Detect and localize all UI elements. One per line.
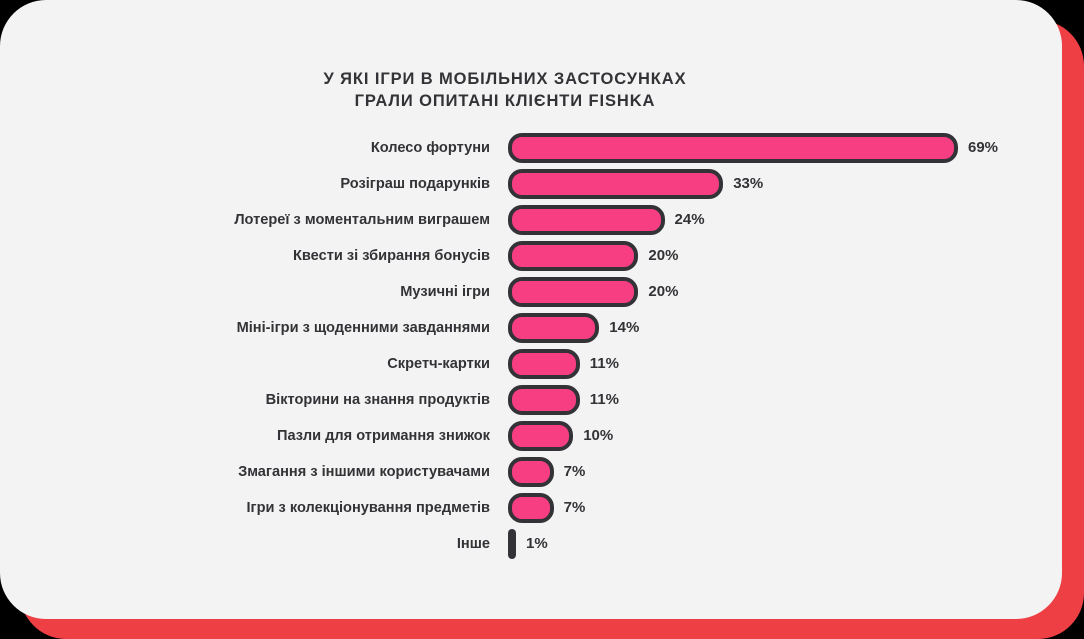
bar-chart-plot: Колесо фортуни69%Розіграш подарунків33%Л… — [0, 130, 1062, 562]
chart-title: У ЯКІ ІГРИ В МОБІЛЬНИХ ЗАСТОСУНКАХ ГРАЛИ… — [0, 68, 1010, 112]
bar — [508, 385, 580, 415]
bar — [508, 457, 554, 487]
bar-category-label: Колесо фортуни — [0, 130, 490, 166]
bar-value-label: 11% — [590, 382, 619, 418]
bar-row: Колесо фортуни69% — [0, 130, 1062, 166]
bar-value-label: 7% — [564, 454, 586, 490]
bar — [508, 349, 580, 379]
bar — [508, 277, 638, 307]
bar-row: Квести зі збирання бонусів20% — [0, 238, 1062, 274]
bar-category-label: Міні-ігри з щоденними завданнями — [0, 310, 490, 346]
bar — [508, 205, 665, 235]
bar-row: Музичні ігри20% — [0, 274, 1062, 310]
bar — [508, 529, 516, 559]
bar-category-label: Змагання з іншими користувачами — [0, 454, 490, 490]
bar-value-label: 24% — [675, 202, 705, 238]
bar-row: Лотереї з моментальним виграшем24% — [0, 202, 1062, 238]
bar-category-label: Ігри з колекціонування предметів — [0, 490, 490, 526]
bar — [508, 313, 599, 343]
bar-row: Міні-ігри з щоденними завданнями14% — [0, 310, 1062, 346]
bar — [508, 169, 723, 199]
bar-value-label: 1% — [526, 526, 548, 562]
bar-category-label: Музичні ігри — [0, 274, 490, 310]
chart-stage: У ЯКІ ІГРИ В МОБІЛЬНИХ ЗАСТОСУНКАХ ГРАЛИ… — [0, 0, 1084, 639]
bar-category-label: Квести зі збирання бонусів — [0, 238, 490, 274]
bar-category-label: Лотереї з моментальним виграшем — [0, 202, 490, 238]
bar-category-label: Вікторини на знання продуктів — [0, 382, 490, 418]
bar-row: Розіграш подарунків33% — [0, 166, 1062, 202]
bar-row: Вікторини на знання продуктів11% — [0, 382, 1062, 418]
bar-category-label: Пазли для отримання знижок — [0, 418, 490, 454]
bar-value-label: 20% — [648, 274, 678, 310]
bar-value-label: 7% — [564, 490, 586, 526]
bar-value-label: 14% — [609, 310, 639, 346]
bar — [508, 133, 958, 163]
bar-value-label: 33% — [733, 166, 763, 202]
bar-value-label: 11% — [590, 346, 619, 382]
bar-category-label: Скретч-картки — [0, 346, 490, 382]
bar — [508, 493, 554, 523]
bar-value-label: 20% — [648, 238, 678, 274]
bar-category-label: Інше — [0, 526, 490, 562]
bar-value-label: 10% — [583, 418, 613, 454]
bar-category-label: Розіграш подарунків — [0, 166, 490, 202]
chart-card: У ЯКІ ІГРИ В МОБІЛЬНИХ ЗАСТОСУНКАХ ГРАЛИ… — [0, 0, 1062, 619]
bar-row: Інше1% — [0, 526, 1062, 562]
bar — [508, 421, 573, 451]
bar-row: Пазли для отримання знижок10% — [0, 418, 1062, 454]
bar-row: Скретч-картки11% — [0, 346, 1062, 382]
bar-value-label: 69% — [968, 130, 998, 166]
bar — [508, 241, 638, 271]
bar-row: Змагання з іншими користувачами7% — [0, 454, 1062, 490]
bar-row: Ігри з колекціонування предметів7% — [0, 490, 1062, 526]
